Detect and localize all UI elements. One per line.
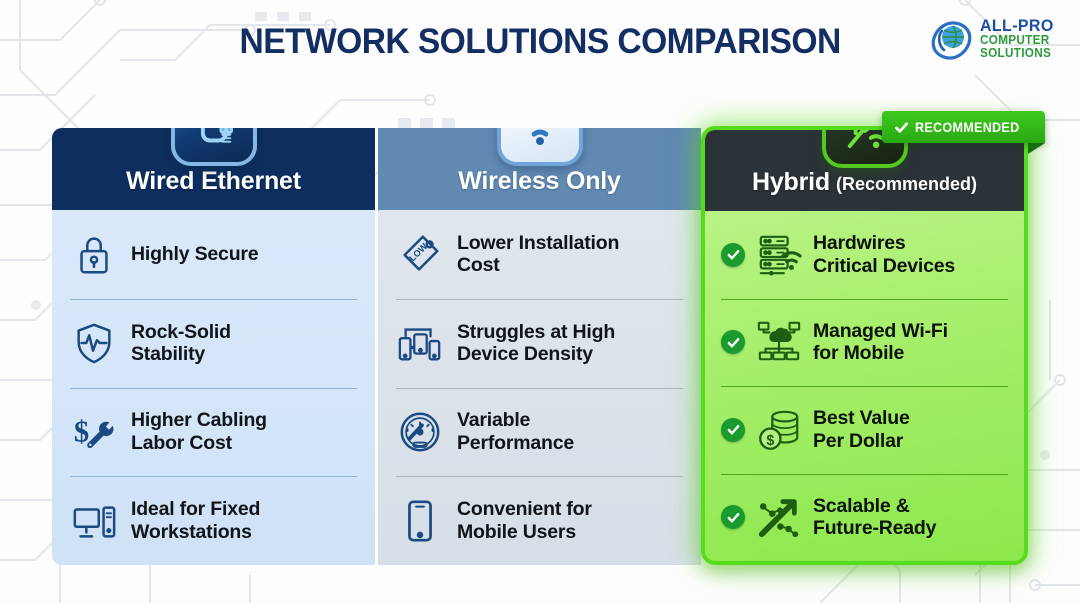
list-item-label: Scalable &Future-Ready [813, 495, 936, 540]
list-item-label: HardwiresCritical Devices [813, 232, 955, 277]
low-price-tag-icon: LOW [396, 230, 444, 278]
list-item-label: Highly Secure [131, 243, 258, 266]
column-title-hybrid: Hybrid [752, 168, 830, 197]
card-hybrid-recommended: Hybrid (Recommended) [701, 126, 1028, 565]
check-icon [721, 330, 745, 354]
feature-list-wireless-only: LOW Lower InstallationCost [378, 210, 701, 565]
list-item-label: Lower InstallationCost [457, 232, 619, 277]
padlock-icon [70, 230, 118, 278]
list-item-label: Ideal for FixedWorkstations [131, 498, 260, 543]
column-subtitle-hybrid: (Recommended) [836, 174, 977, 195]
list-item: Ideal for FixedWorkstations [68, 476, 359, 565]
feature-list-hybrid: HardwiresCritical Devices [705, 211, 1024, 561]
brand-logo: ALL-PRO COMPUTER SOLUTIONS [928, 14, 1058, 62]
list-item-label: Managed Wi-Fifor Mobile [813, 320, 948, 365]
list-item: VariablePerformance [394, 388, 685, 477]
card-wireless-only: Wireless Only LOW Lower InstallationCost [378, 128, 701, 565]
list-item: Highly Secure [68, 210, 359, 299]
list-item: Struggles at HighDevice Density [394, 299, 685, 388]
column-wireless-only: Wireless Only LOW Lower InstallationCost [378, 128, 701, 565]
page-title: NETWORK SOLUTIONS COMPARISON [0, 22, 1080, 62]
list-item: Rock-SolidStability [68, 299, 359, 388]
comparison-infographic: NETWORK SOLUTIONS COMPARISON ALL-PRO COM… [0, 0, 1080, 603]
growth-arrow-icon [755, 493, 803, 541]
recommended-badge: RECOMMENDED [882, 111, 1045, 143]
list-item-label: Rock-SolidStability [131, 321, 231, 366]
list-item: $ Higher CablingLabor Cost [68, 388, 359, 477]
list-item: Managed Wi-Fifor Mobile [719, 299, 1010, 387]
list-item-label: Convenient forMobile Users [457, 498, 592, 543]
column-hybrid: Hybrid (Recommended) [701, 128, 1028, 565]
logo-line-3: SOLUTIONS [980, 47, 1054, 60]
feature-list-wired-ethernet: Highly Secure Rock-SolidStability [52, 210, 375, 565]
column-title-wireless-only: Wireless Only [458, 167, 621, 196]
multi-devices-icon [396, 319, 444, 367]
speedometer-icon [396, 408, 444, 456]
list-item-label: Higher CablingLabor Cost [131, 409, 267, 454]
check-icon [894, 120, 909, 135]
list-item: HardwiresCritical Devices [719, 211, 1010, 299]
svg-text:$: $ [766, 433, 774, 449]
desktop-tower-icon [70, 497, 118, 545]
list-item: Scalable &Future-Ready [719, 474, 1010, 562]
page-title-text: NETWORK SOLUTIONS COMPARISON [239, 22, 840, 62]
smartphone-icon [396, 497, 444, 545]
list-item-label: Struggles at HighDevice Density [457, 321, 615, 366]
logo-line-1: ALL-PRO [980, 17, 1054, 34]
svg-text:$: $ [74, 414, 89, 448]
logo-wordmark: ALL-PRO COMPUTER SOLUTIONS [980, 17, 1058, 59]
comparison-columns: Wired Ethernet Highly S [52, 128, 1028, 565]
globe-swoosh-logo-icon [928, 14, 976, 62]
ethernet-cable-icon [171, 128, 257, 166]
wifi-signal-icon [497, 128, 583, 166]
list-item-label: Best ValuePer Dollar [813, 407, 910, 452]
column-title-wired-ethernet: Wired Ethernet [126, 167, 301, 196]
check-icon [721, 505, 745, 529]
card-wired-ethernet: Wired Ethernet Highly S [52, 128, 375, 565]
list-item-label: VariablePerformance [457, 409, 574, 454]
server-wifi-icon [755, 231, 803, 279]
coins-dollar-icon: $ [755, 406, 803, 454]
check-icon [721, 243, 745, 267]
shield-pulse-icon [70, 319, 118, 367]
list-item: $ Best ValuePer Dollar [719, 386, 1010, 474]
check-icon [721, 418, 745, 442]
dollar-wrench-icon: $ [70, 408, 118, 456]
list-item: Convenient forMobile Users [394, 476, 685, 565]
cloud-network-icon [755, 318, 803, 366]
recommended-badge-label: RECOMMENDED [915, 119, 1019, 135]
list-item: LOW Lower InstallationCost [394, 210, 685, 299]
column-wired-ethernet: Wired Ethernet Highly S [52, 128, 375, 565]
